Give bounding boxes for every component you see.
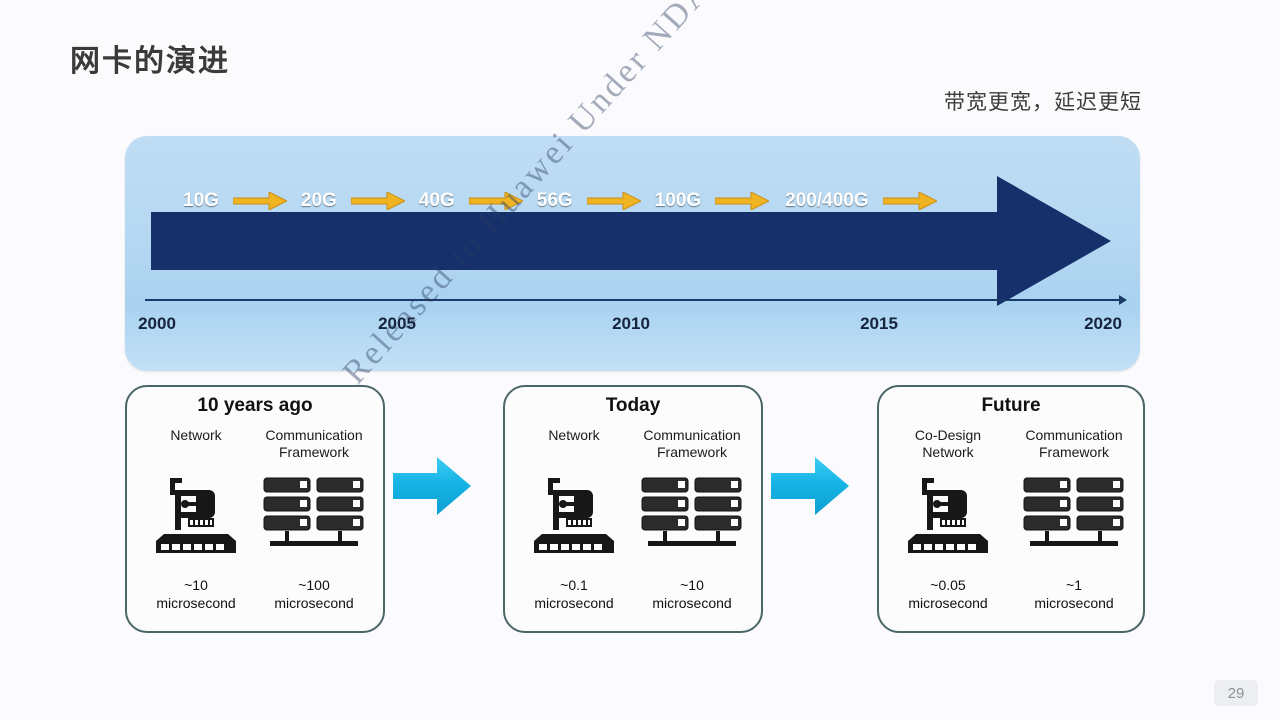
timeline-year-labels: 2000 2005 2010 2015 2020 [125,314,1140,340]
card-2-column-framework: CommunicationFramework [1011,427,1137,563]
gold-arrow-icon-0 [233,192,287,210]
card-0-column-network: Network [133,427,259,563]
card-future: Future Co-DesignNetwork [877,385,1145,633]
card-0-values: ~10microsecond ~100microsecond [133,577,377,619]
speed-label-0: 10G [183,190,219,212]
gold-arrow-icon-1 [351,192,405,210]
value-framework: ~10microsecond [629,577,755,612]
arrow-right-icon-1 [393,455,471,517]
speed-label-5: 200/400G [785,190,868,212]
column-label: CommunicationFramework [251,427,377,463]
year-label-2015: 2015 [860,314,898,334]
gold-arrow-icon-5 [883,192,937,210]
year-label-2020: 2020 [1084,314,1122,334]
speed-label-4: 100G [655,190,701,212]
column-label: CommunicationFramework [1011,427,1137,463]
nic-switch-icon [133,465,259,563]
year-label-2000: 2000 [138,314,176,334]
speed-label-2: 40G [419,190,455,212]
card-0-column-framework: CommunicationFramework [251,427,377,563]
server-rack-icon [1011,465,1137,563]
server-rack-icon [629,465,755,563]
page-title: 网卡的演进 [70,44,230,80]
comparison-cards: 10 years ago Network [125,385,1145,635]
year-label-2005: 2005 [378,314,416,334]
value-network: ~0.1microsecond [511,577,637,612]
card-1-column-framework: CommunicationFramework [629,427,755,563]
page-number-badge: 29 [1214,680,1258,706]
arrow-right-icon-2 [771,455,849,517]
value-network: ~10microsecond [133,577,259,612]
card-1-column-network: Network [511,427,637,563]
speed-label-1: 20G [301,190,337,212]
speed-sequence: 10G 20G 40G 56G 100G 200/400G [125,136,1135,266]
value-network: ~0.05microsecond [885,577,1011,612]
value-framework: ~1microsecond [1011,577,1137,612]
column-label: Network [511,427,637,463]
bandwidth-timeline-banner: 10G 20G 40G 56G 100G 200/400G [125,136,1140,371]
column-label: Network [133,427,259,463]
nic-switch-icon [511,465,637,563]
card-10-years-ago: 10 years ago Network [125,385,385,633]
gold-arrow-icon-4 [715,192,769,210]
card-title-0: 10 years ago [127,395,383,417]
value-framework: ~100microsecond [251,577,377,612]
column-label: Co-DesignNetwork [885,427,1011,463]
column-label: CommunicationFramework [629,427,755,463]
speed-label-3: 56G [537,190,573,212]
year-label-2010: 2010 [612,314,650,334]
gold-arrow-icon-3 [587,192,641,210]
gold-arrow-icon-2 [469,192,523,210]
card-2-values: ~0.05microsecond ~1microsecond [885,577,1137,619]
card-today: Today Network [503,385,763,633]
nic-switch-icon [885,465,1011,563]
card-title-2: Future [879,395,1143,417]
card-1-values: ~0.1microsecond ~10microsecond [511,577,755,619]
slide-root: 网卡的演进 带宽更宽，延迟更短 10G 20G 40G 56G 100G [0,0,1280,720]
page-subtitle: 带宽更宽，延迟更短 [944,86,1142,116]
card-title-1: Today [505,395,761,417]
server-rack-icon [251,465,377,563]
card-2-column-network: Co-DesignNetwork [885,427,1011,563]
timeline-axis [145,299,1120,301]
